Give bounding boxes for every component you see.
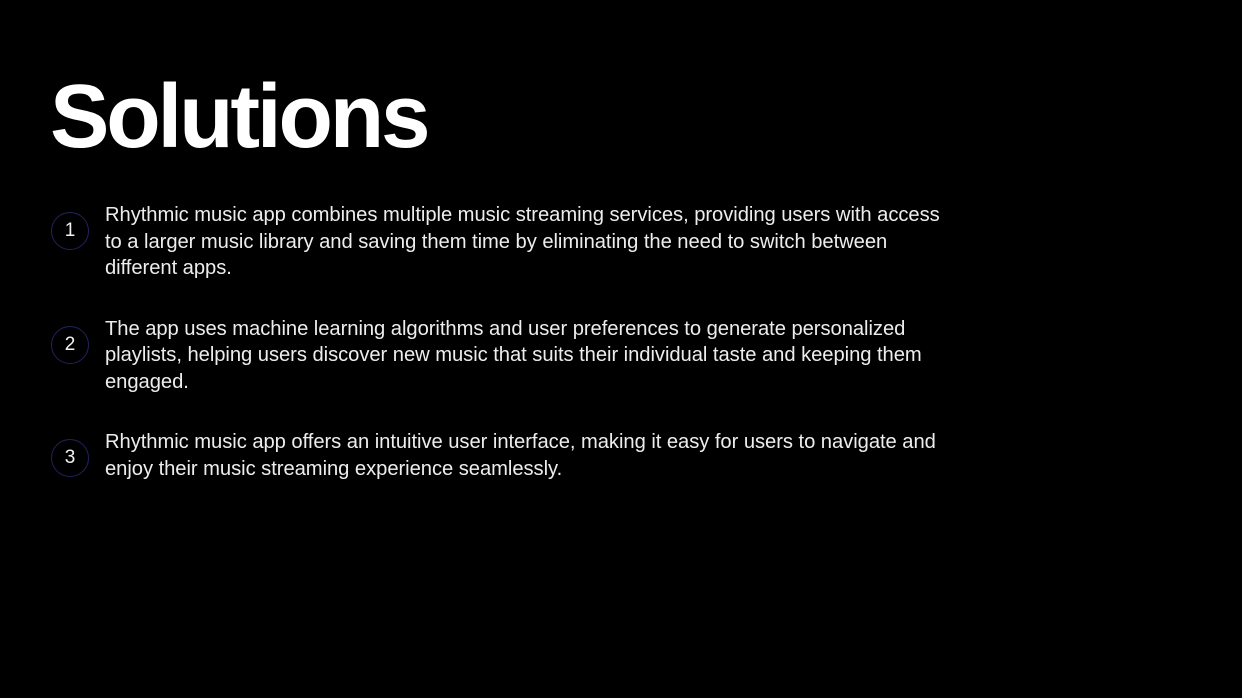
- solutions-list: 1 Rhythmic music app combines multiple m…: [50, 199, 970, 482]
- page-title: Solutions: [50, 72, 427, 162]
- list-item: 2 The app uses machine learning algorith…: [50, 313, 970, 396]
- list-item-text: The app uses machine learning algorithms…: [105, 313, 970, 396]
- numbered-marker-icon: 1: [51, 212, 89, 250]
- numbered-marker-icon: 3: [51, 439, 89, 477]
- marker-number: 2: [65, 335, 76, 354]
- marker-number: 3: [65, 448, 76, 467]
- presentation-slide: Solutions 1 Rhythmic music app combines …: [0, 0, 1242, 698]
- list-item: 1 Rhythmic music app combines multiple m…: [50, 199, 970, 282]
- list-item-text: Rhythmic music app offers an intuitive u…: [105, 426, 965, 482]
- marker-number: 1: [65, 221, 76, 240]
- list-item-text: Rhythmic music app combines multiple mus…: [105, 199, 945, 282]
- list-item: 3 Rhythmic music app offers an intuitive…: [50, 426, 970, 482]
- numbered-marker-icon: 2: [51, 326, 89, 364]
